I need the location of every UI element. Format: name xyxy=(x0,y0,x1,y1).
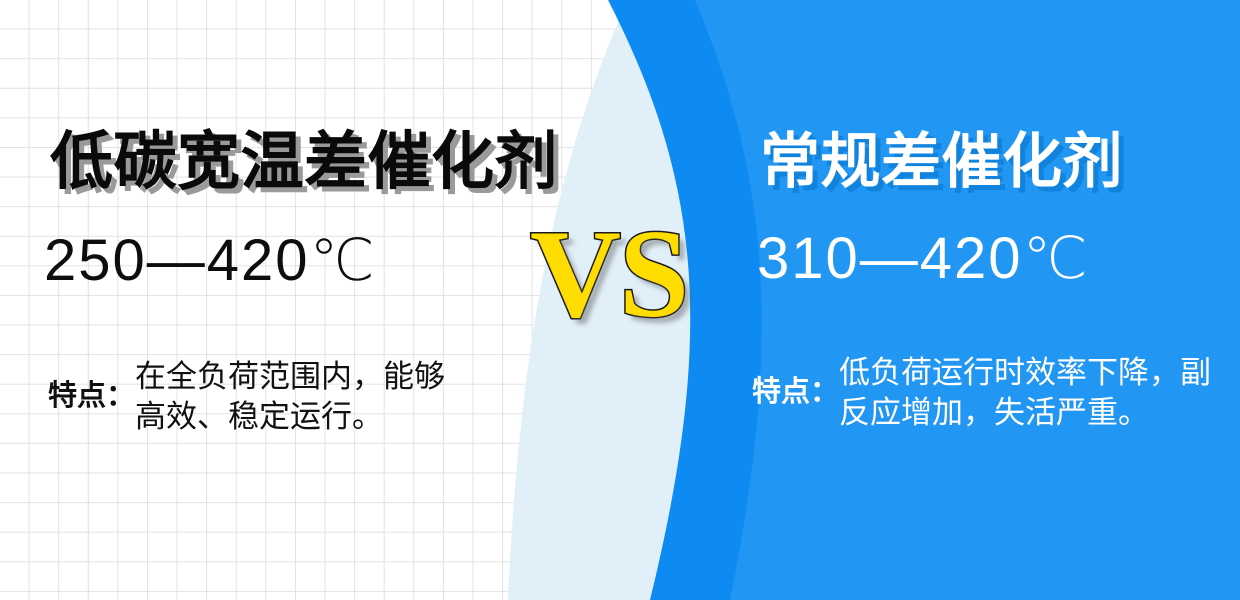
left-product-title: 低碳宽温差催化剂 xyxy=(50,131,558,194)
right-temperature-range: 310—420℃ xyxy=(757,230,1090,288)
right-feature-text: 低负荷运行时效率下降，副 反应增加，失活严重。 xyxy=(839,353,1219,432)
left-feature-block: 特点： 在全负荷范围内，能够高效、稳定运行。 xyxy=(48,357,498,436)
right-feature-label: 特点： xyxy=(752,374,839,411)
right-product-panel: 常规差催化剂 310—420℃ 特点： 低负荷运行时效率下降，副 反应增加，失活… xyxy=(700,0,1240,600)
left-feature-label: 特点： xyxy=(48,378,135,415)
left-feature-text: 在全负荷范围内，能够高效、稳定运行。 xyxy=(135,357,475,436)
right-feature-block: 特点： 低负荷运行时效率下降，副 反应增加，失活严重。 xyxy=(752,353,1222,432)
comparison-infographic: 低碳宽温差催化剂 250—420℃ 特点： 在全负荷范围内，能够高效、稳定运行。… xyxy=(0,0,1240,600)
right-product-title: 常规差催化剂 xyxy=(760,132,1123,192)
versus-badge: VS xyxy=(530,212,687,338)
left-temperature-range: 250—420℃ xyxy=(44,232,377,290)
